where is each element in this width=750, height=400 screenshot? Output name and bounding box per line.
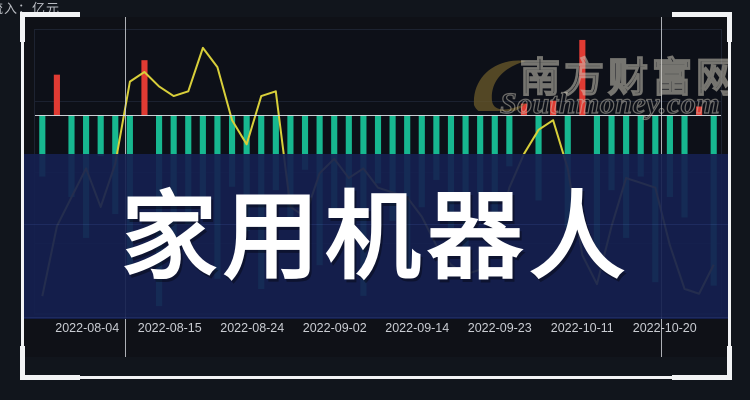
chart-bar (579, 40, 585, 115)
chart-caption: 流入：亿元 (0, 0, 250, 18)
overlay-title: 家用机器人 (24, 154, 728, 319)
x-axis-tick-label: 2022-08-04 (55, 321, 119, 335)
x-axis-tick-label: 2022-08-24 (220, 321, 284, 335)
chart-bar (696, 107, 702, 116)
zero-reference-line (35, 115, 721, 116)
screenshot-root: 流入：亿元 39254462 家用机器人 南方财富网 Sout (0, 0, 750, 400)
chart-bar (521, 104, 527, 116)
chart-bar (141, 60, 147, 115)
x-axis-tick-label: 2022-10-11 (551, 321, 614, 335)
x-axis-tick-label: 2022-10-20 (633, 321, 697, 335)
chart-container: 家用机器人 南方财富网 Southmoney.com 2022-08-04202… (24, 17, 728, 357)
chart-bar (98, 115, 104, 156)
chart-bar (550, 101, 556, 115)
x-axis-tick-label: 2022-09-14 (385, 321, 449, 335)
x-axis-tick-label: 2022-09-02 (303, 321, 367, 335)
x-axis-tick-label: 2022-08-15 (138, 321, 202, 335)
x-axis: 2022-08-042022-08-152022-08-242022-09-02… (24, 321, 728, 343)
x-axis-tick-label: 2022-09-23 (468, 321, 532, 335)
chart-bar (54, 75, 60, 116)
